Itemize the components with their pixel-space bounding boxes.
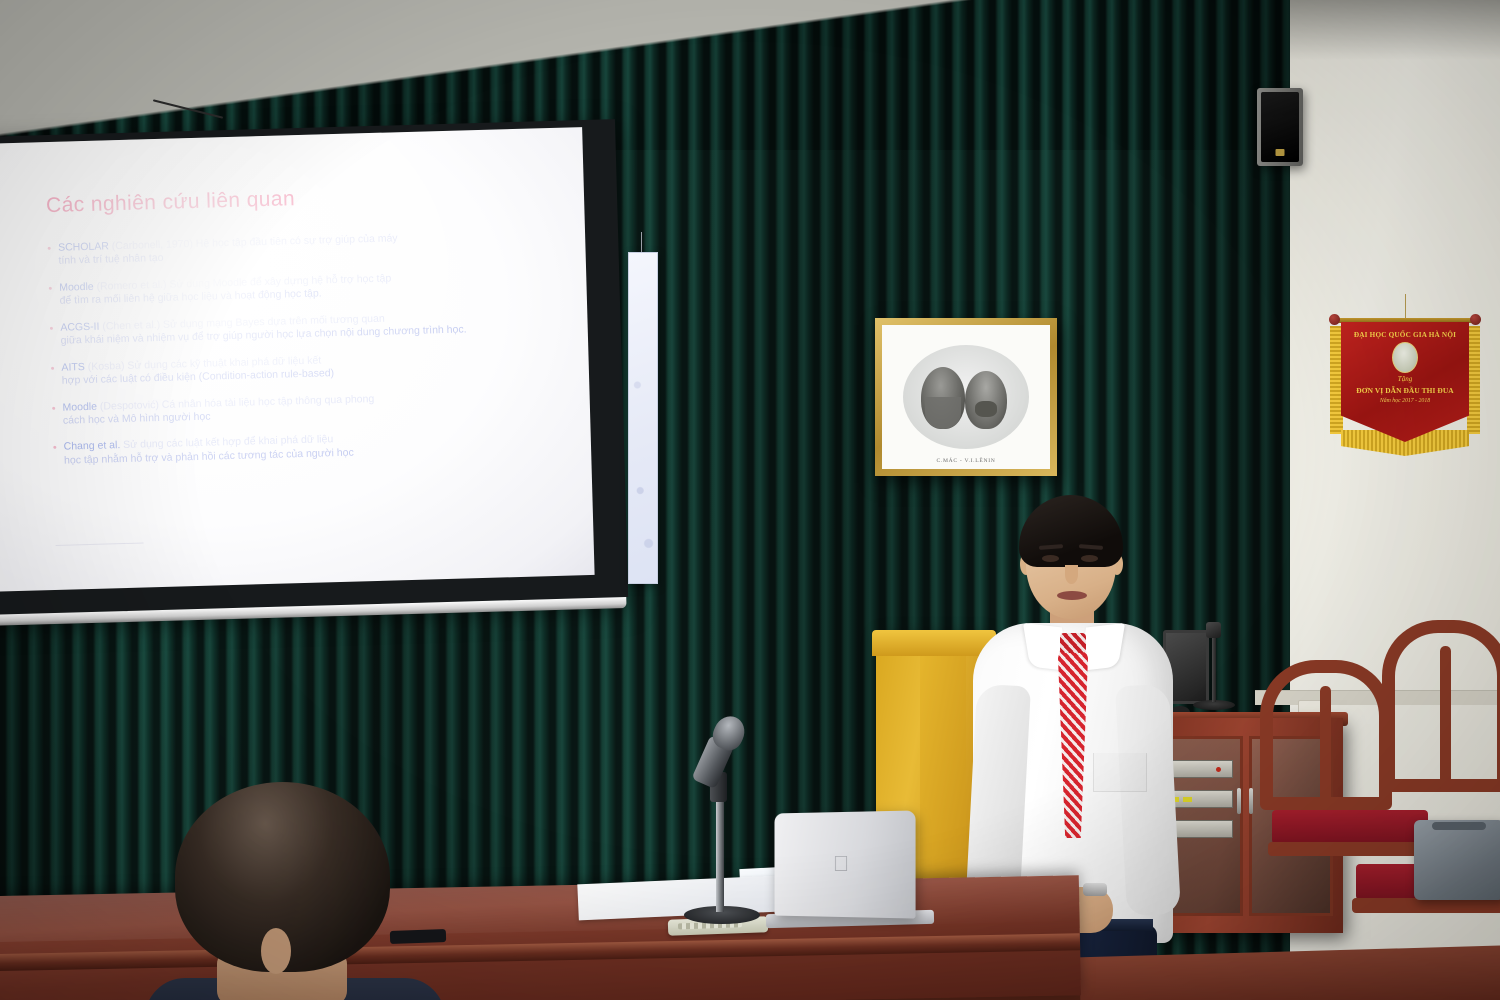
bag-strap xyxy=(1432,822,1486,830)
bullet-name: ACGS-II xyxy=(60,320,99,333)
eye xyxy=(1081,555,1098,562)
audience-ear xyxy=(261,928,291,974)
shirt-pocket xyxy=(1093,753,1147,792)
portrait-caption: C.MÁC - V.I.LÊNIN xyxy=(882,458,1050,464)
wall-speaker-icon xyxy=(1257,88,1303,166)
slide-bullet: • Moodle (Romero et al.) Sử dụng Moodle … xyxy=(48,268,553,309)
slide-bullet: • ACGS-II (Chen et al.) Sử dụng mạng Bay… xyxy=(49,308,554,349)
nose xyxy=(1065,565,1078,584)
portrait-oval xyxy=(903,345,1029,449)
pennant-hanging-cord xyxy=(1405,294,1406,320)
chair-seat-frame xyxy=(1268,842,1432,856)
slide-bullet-list: • SCHOLAR (Carbonell, 1970) Hệ học tập đ… xyxy=(47,228,557,468)
bullet-name: Moodle xyxy=(62,400,97,413)
chair-slat xyxy=(1320,686,1331,810)
bullet-dot-icon: • xyxy=(52,401,57,428)
slide-bullet: • Moodle (Despotović) Cá nhân hóa tài li… xyxy=(52,387,557,428)
university-emblem-icon xyxy=(1392,342,1418,373)
mouth xyxy=(1057,591,1087,600)
bullet-text: SCHOLAR (Carbonell, 1970) Hệ học tập đầu… xyxy=(58,232,398,268)
bullet-dot-icon: • xyxy=(47,242,52,269)
power-led-icon xyxy=(1216,767,1221,772)
pennant-tang: Tặng xyxy=(1341,375,1469,383)
bullet-line-two: tính và trí tuệ nhân tạo xyxy=(58,246,398,269)
pennant-rod-cap xyxy=(1470,314,1481,325)
bullet-dot-icon: • xyxy=(53,441,58,468)
eye xyxy=(1042,555,1059,562)
bullet-dot-icon: • xyxy=(50,362,55,389)
bullet-citation: (Chen et al.) xyxy=(102,319,160,333)
bullet-citation: (Romero et al.) xyxy=(96,279,166,293)
slide-content: Các nghiên cứu liên quan • SCHOLAR (Carb… xyxy=(0,127,595,592)
pennant-rod-cap xyxy=(1329,314,1340,325)
hanging-banner xyxy=(628,252,658,584)
marx-figure xyxy=(921,367,965,429)
bullet-dot-icon: • xyxy=(48,282,53,309)
lenin-figure xyxy=(965,371,1007,429)
screen-surface: Các nghiên cứu liên quan • SCHOLAR (Carb… xyxy=(0,127,595,592)
bullet-dot-icon: • xyxy=(49,322,54,349)
cabinet-mic-pole xyxy=(1212,630,1216,702)
slide-footer-rule xyxy=(56,542,144,545)
chair-seat-frame xyxy=(1352,898,1500,913)
microphone-stand xyxy=(716,790,724,912)
speaker-cone xyxy=(1261,92,1299,162)
necktie-knot xyxy=(1060,633,1086,653)
bullet-name: AITS xyxy=(61,361,85,374)
bullet-citation: (Despotović) xyxy=(100,399,159,413)
pennant-line-two: ĐƠN VỊ DẪN ĐẦU THI ĐUA xyxy=(1341,386,1469,395)
speaker-badge xyxy=(1276,149,1285,156)
bullet-name: SCHOLAR xyxy=(58,240,109,253)
pennant-cloth: ĐẠI HỌC QUỐC GIA HÀ NỘI Tặng ĐƠN VỊ DẪN … xyxy=(1341,322,1469,442)
cabinet-mic-head xyxy=(1206,622,1221,638)
laptop-bag[interactable] xyxy=(1414,820,1500,900)
award-pennant: ĐẠI HỌC QUỐC GIA HÀ NỘI Tặng ĐƠN VỊ DẪN … xyxy=(1331,300,1479,476)
framed-portrait: C.MÁC - V.I.LÊNIN xyxy=(875,318,1057,476)
slide-bullet: • AITS (Kosba) Sử dụng các kỹ thuật khai… xyxy=(50,348,555,389)
banner-graphic xyxy=(629,253,657,583)
chair-slat xyxy=(1440,646,1451,792)
cabinet-handle[interactable] xyxy=(1249,788,1253,814)
screen-border: Các nghiên cứu liên quan • SCHOLAR (Carb… xyxy=(0,119,628,615)
status-led-icon xyxy=(1183,797,1192,802)
cabinet-handle[interactable] xyxy=(1237,788,1241,814)
laptop-lid:  xyxy=(775,810,916,918)
slide-bullet: • SCHOLAR (Carbonell, 1970) Hệ học tập đ… xyxy=(47,228,552,269)
portrait-mat: C.MÁC - V.I.LÊNIN xyxy=(882,325,1050,469)
presentation-room-scene: Các nghiên cứu liên quan • SCHOLAR (Carb… xyxy=(0,0,1500,1000)
chair-seat-cushion xyxy=(1272,810,1428,844)
bullet-text: AITS (Kosba) Sử dụng các kỹ thuật khai p… xyxy=(61,354,334,388)
bullet-text: ACGS-II (Chen et al.) Sử dụng mạng Bayes… xyxy=(60,310,467,348)
bullet-text: Chang et al. Sử dụng các luật kết hợp để… xyxy=(64,433,354,468)
bullet-citation: (Carbonell, 1970) xyxy=(112,238,193,252)
pennant-year: Năm học 2017 - 2018 xyxy=(1341,398,1469,404)
wristwatch xyxy=(1083,883,1107,896)
apple-logo-icon:  xyxy=(831,854,851,876)
bullet-name: Chang et al. xyxy=(64,439,121,453)
slide-bullet: • Chang et al. Sử dụng các luật kết hợp … xyxy=(53,427,558,468)
bullet-name: Moodle xyxy=(59,281,94,294)
bullet-text: Moodle (Romero et al.) Sử dụng Moodle để… xyxy=(59,272,392,308)
projection-screen: Các nghiên cứu liên quan • SCHOLAR (Carb… xyxy=(0,119,629,637)
bullet-text: Moodle (Despotović) Cá nhân hóa tài liệu… xyxy=(62,392,374,428)
presenter-hair xyxy=(1019,495,1123,567)
audience-member xyxy=(165,782,405,1000)
slide-title: Các nghiên cứu liên quan xyxy=(46,180,550,218)
bullet-citation: (Kosba) xyxy=(88,360,125,373)
pennant-line-one: ĐẠI HỌC QUỐC GIA HÀ NỘI xyxy=(1341,331,1469,339)
banner-cord xyxy=(641,232,642,254)
